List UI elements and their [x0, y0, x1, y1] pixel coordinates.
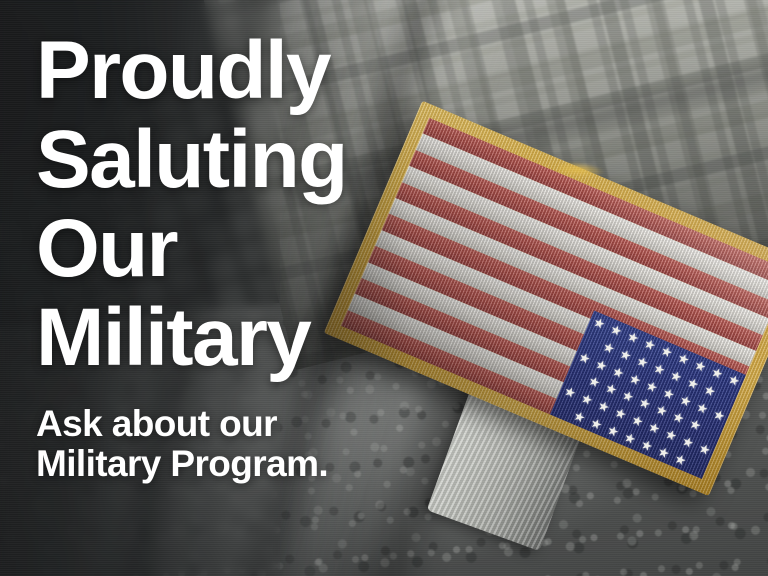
flag-star: ★ [609, 323, 623, 337]
banner-copy: Proudly Saluting Our Military Ask about … [36, 0, 476, 484]
flag-star: ★ [654, 403, 668, 417]
flag-star: ★ [702, 383, 716, 397]
flag-star: ★ [652, 362, 666, 376]
flag-star: ★ [688, 418, 702, 432]
flag-star: ★ [577, 350, 591, 364]
flag-star: ★ [628, 372, 642, 386]
flag-star: ★ [592, 316, 606, 330]
flag-star: ★ [637, 396, 651, 410]
flag-star: ★ [645, 379, 659, 393]
flag-star: ★ [669, 369, 683, 383]
subheadline-line-2: Military Program. [36, 444, 476, 484]
flag-star: ★ [604, 382, 618, 396]
flag-star: ★ [596, 399, 610, 413]
flag-star: ★ [630, 414, 644, 428]
flag-star: ★ [579, 392, 593, 406]
flag-star: ★ [618, 347, 632, 361]
flag-star: ★ [661, 386, 675, 400]
flag-star: ★ [626, 330, 640, 344]
headline-line-2: Saluting [36, 115, 476, 204]
flag-star: ★ [563, 385, 577, 399]
flag-star: ★ [710, 366, 724, 380]
flag-star: ★ [572, 409, 586, 423]
flag-star: ★ [587, 375, 601, 389]
headline-line-4: Military [36, 293, 476, 382]
flag-star: ★ [727, 373, 741, 387]
flag-star: ★ [639, 438, 653, 452]
flag-star: ★ [693, 359, 707, 373]
flag-star: ★ [697, 442, 711, 456]
flag-star: ★ [635, 354, 649, 368]
subheadline-line-1: Ask about our [36, 404, 476, 444]
banner-subtitle: Ask about our Military Program. [36, 382, 476, 484]
flag-star: ★ [611, 365, 625, 379]
flag-star: ★ [594, 357, 608, 371]
flag-star: ★ [620, 389, 634, 403]
flag-star: ★ [589, 417, 603, 431]
military-banner: ★★★★★★★★★★★★★★★★★★★★★★★★★★★★★★★★★★★★★★★★… [0, 0, 768, 576]
flag-star: ★ [686, 376, 700, 390]
flag-star: ★ [664, 428, 678, 442]
flag-star: ★ [622, 431, 636, 445]
flag-star: ★ [671, 411, 685, 425]
flag-star: ★ [601, 340, 615, 354]
flag-star: ★ [613, 406, 627, 420]
flag-star: ★ [673, 452, 687, 466]
page-title: Proudly Saluting Our Military [36, 0, 476, 382]
flag-star: ★ [647, 421, 661, 435]
flag-star: ★ [680, 435, 694, 449]
flag-star: ★ [712, 408, 726, 422]
flag-star: ★ [678, 393, 692, 407]
flag-star: ★ [642, 337, 656, 351]
flag-star: ★ [676, 351, 690, 365]
headline-line-1: Proudly [36, 26, 476, 115]
flag-star: ★ [656, 445, 670, 459]
flag-star: ★ [695, 400, 709, 414]
flag-star: ★ [606, 424, 620, 438]
headline-line-3: Our [36, 204, 476, 293]
flag-star: ★ [659, 344, 673, 358]
